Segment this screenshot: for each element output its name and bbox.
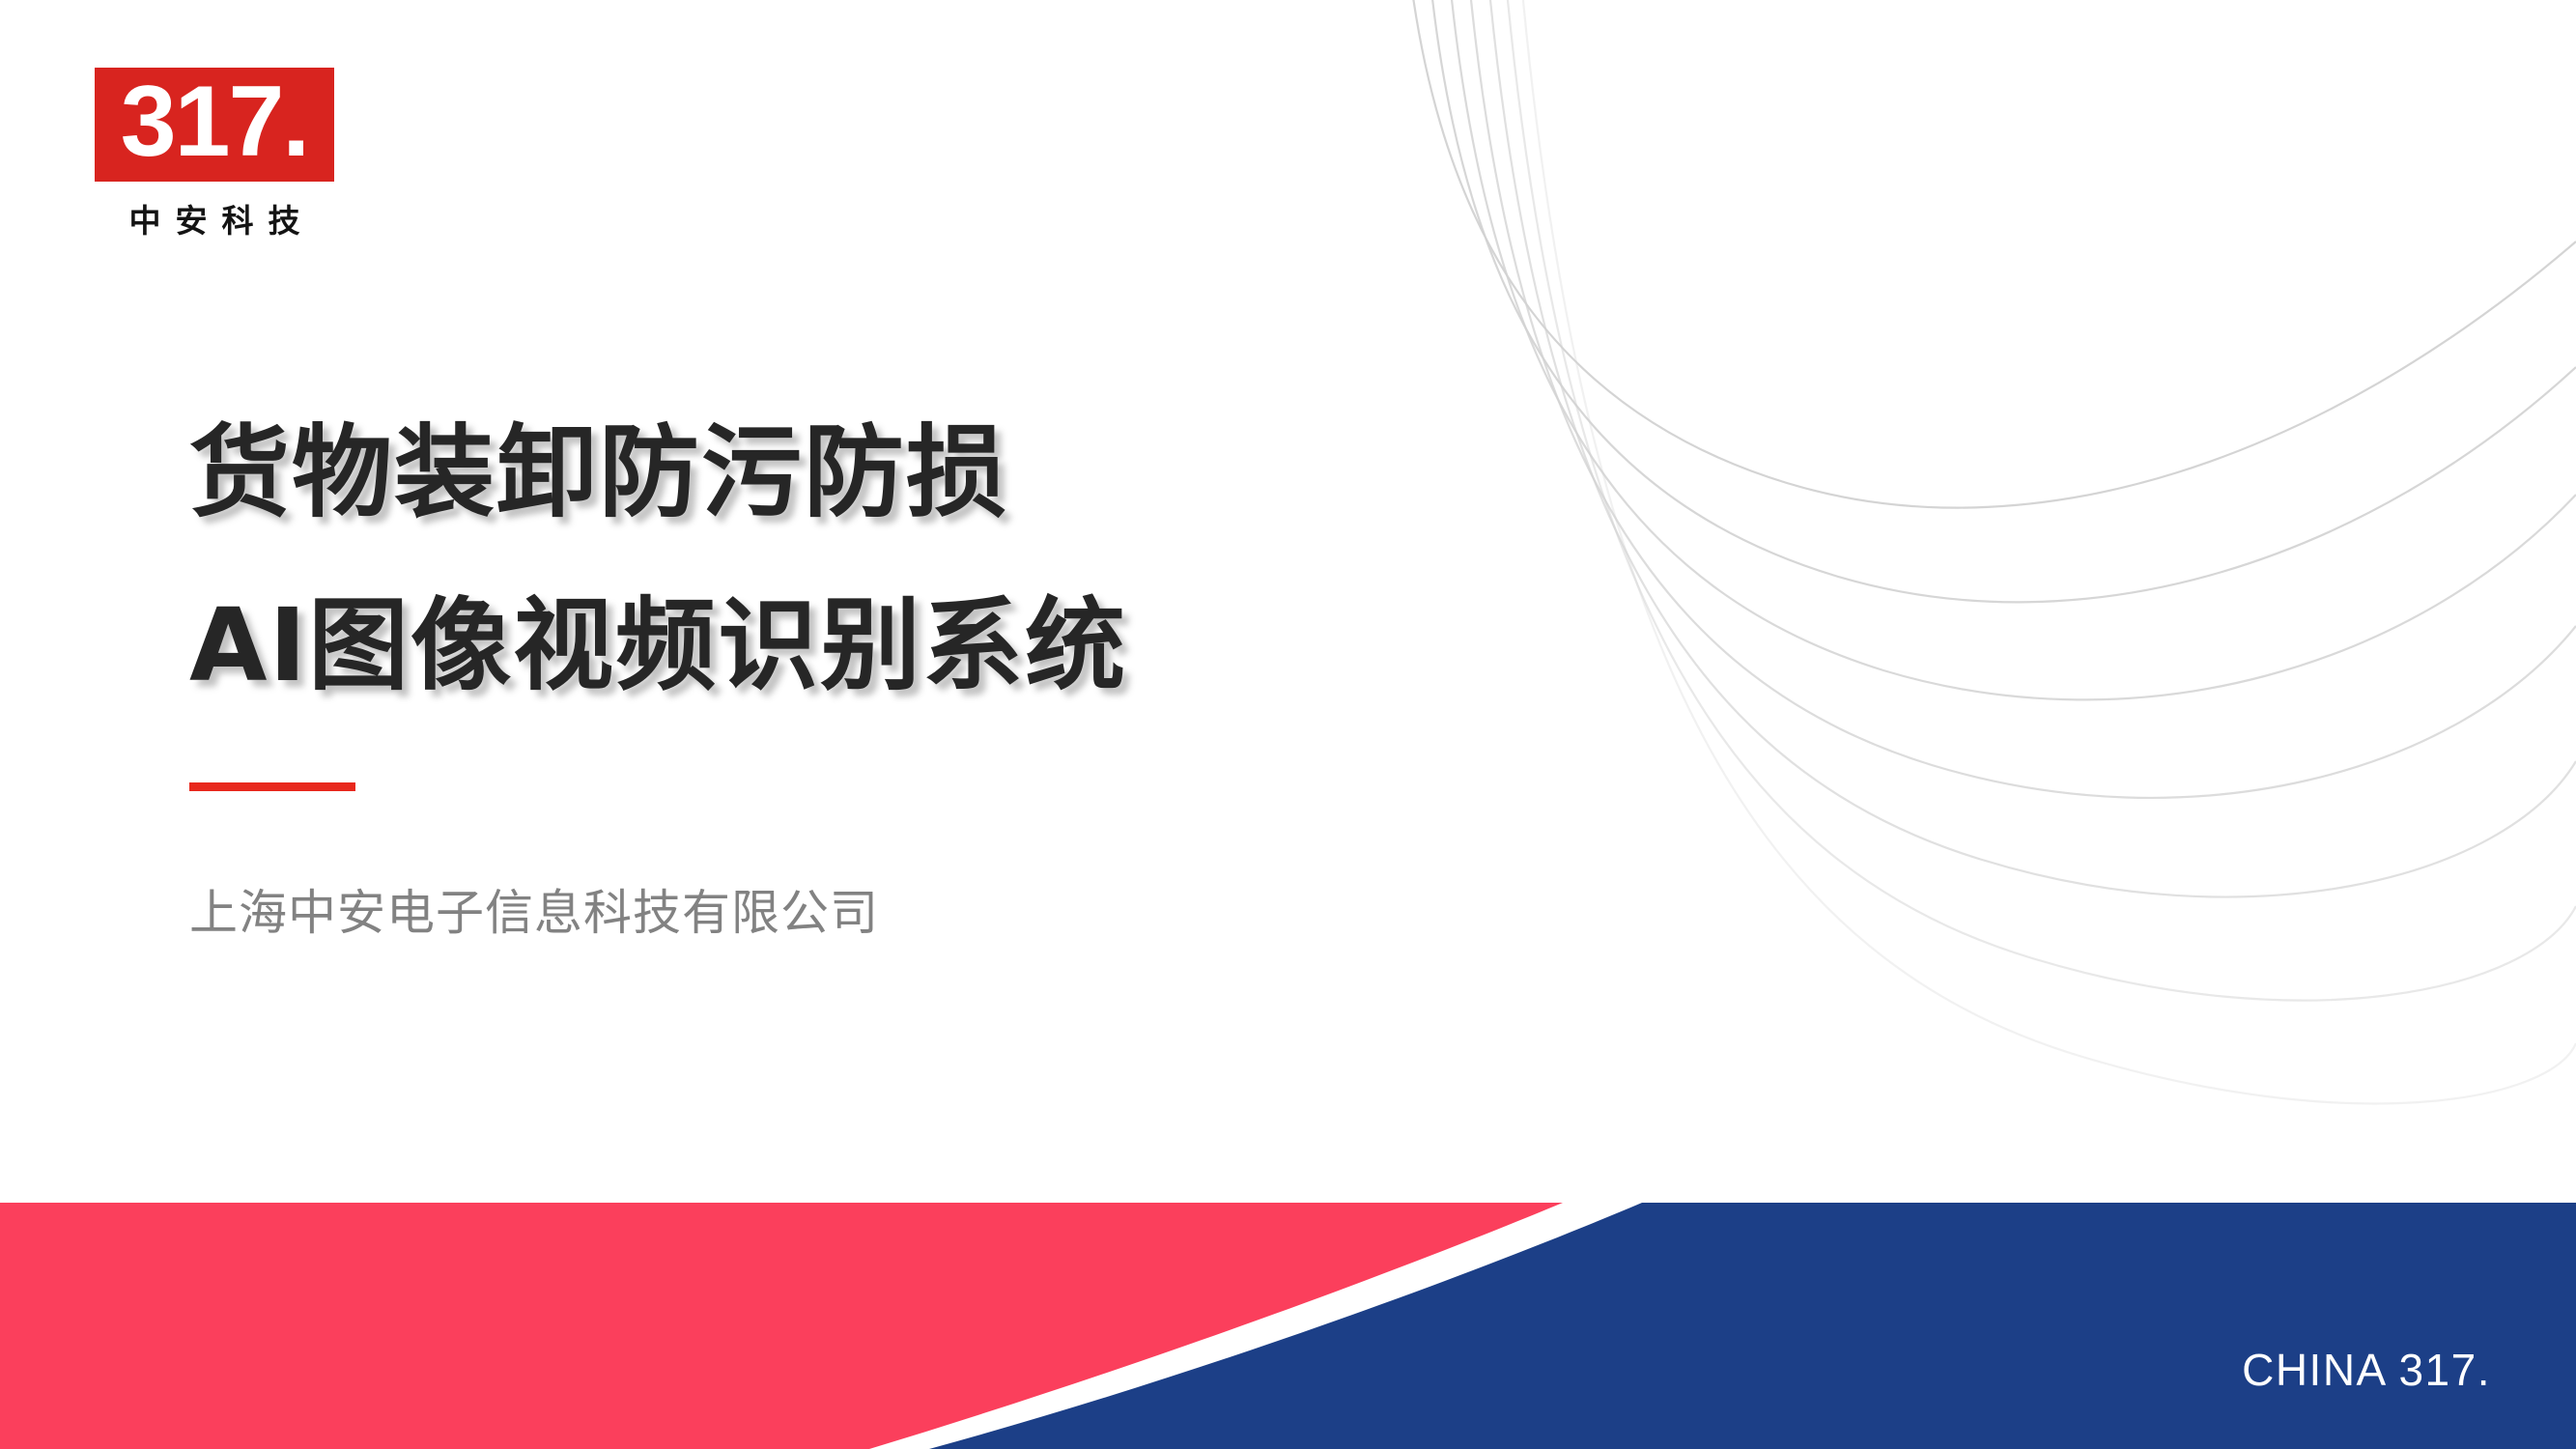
company-logo: 317. 中安科技: [95, 68, 375, 241]
logo-badge: 317.: [95, 68, 334, 182]
logo-badge-text: 317.: [121, 74, 308, 170]
bottom-banner: CHINA 317.: [0, 1203, 2576, 1449]
page-title: 货物装卸防污防损 AI图像视频识别系统: [189, 386, 1127, 732]
subtitle-company-name: 上海中安电子信息科技有限公司: [189, 874, 879, 944]
title-line-1: 货物装卸防污防损: [189, 386, 1127, 559]
logo-company-short: 中安科技: [95, 195, 334, 241]
banner-shapes: [0, 1203, 2576, 1449]
banner-brand-text: CHINA 317.: [2242, 1344, 2491, 1396]
title-line-2: AI图像视频识别系统: [189, 559, 1127, 732]
presentation-title-slide: 317. 中安科技 货物装卸防污防损 AI图像视频识别系统 上海中安电子信息科技…: [0, 0, 2576, 1449]
title-divider-rule: [189, 782, 355, 791]
